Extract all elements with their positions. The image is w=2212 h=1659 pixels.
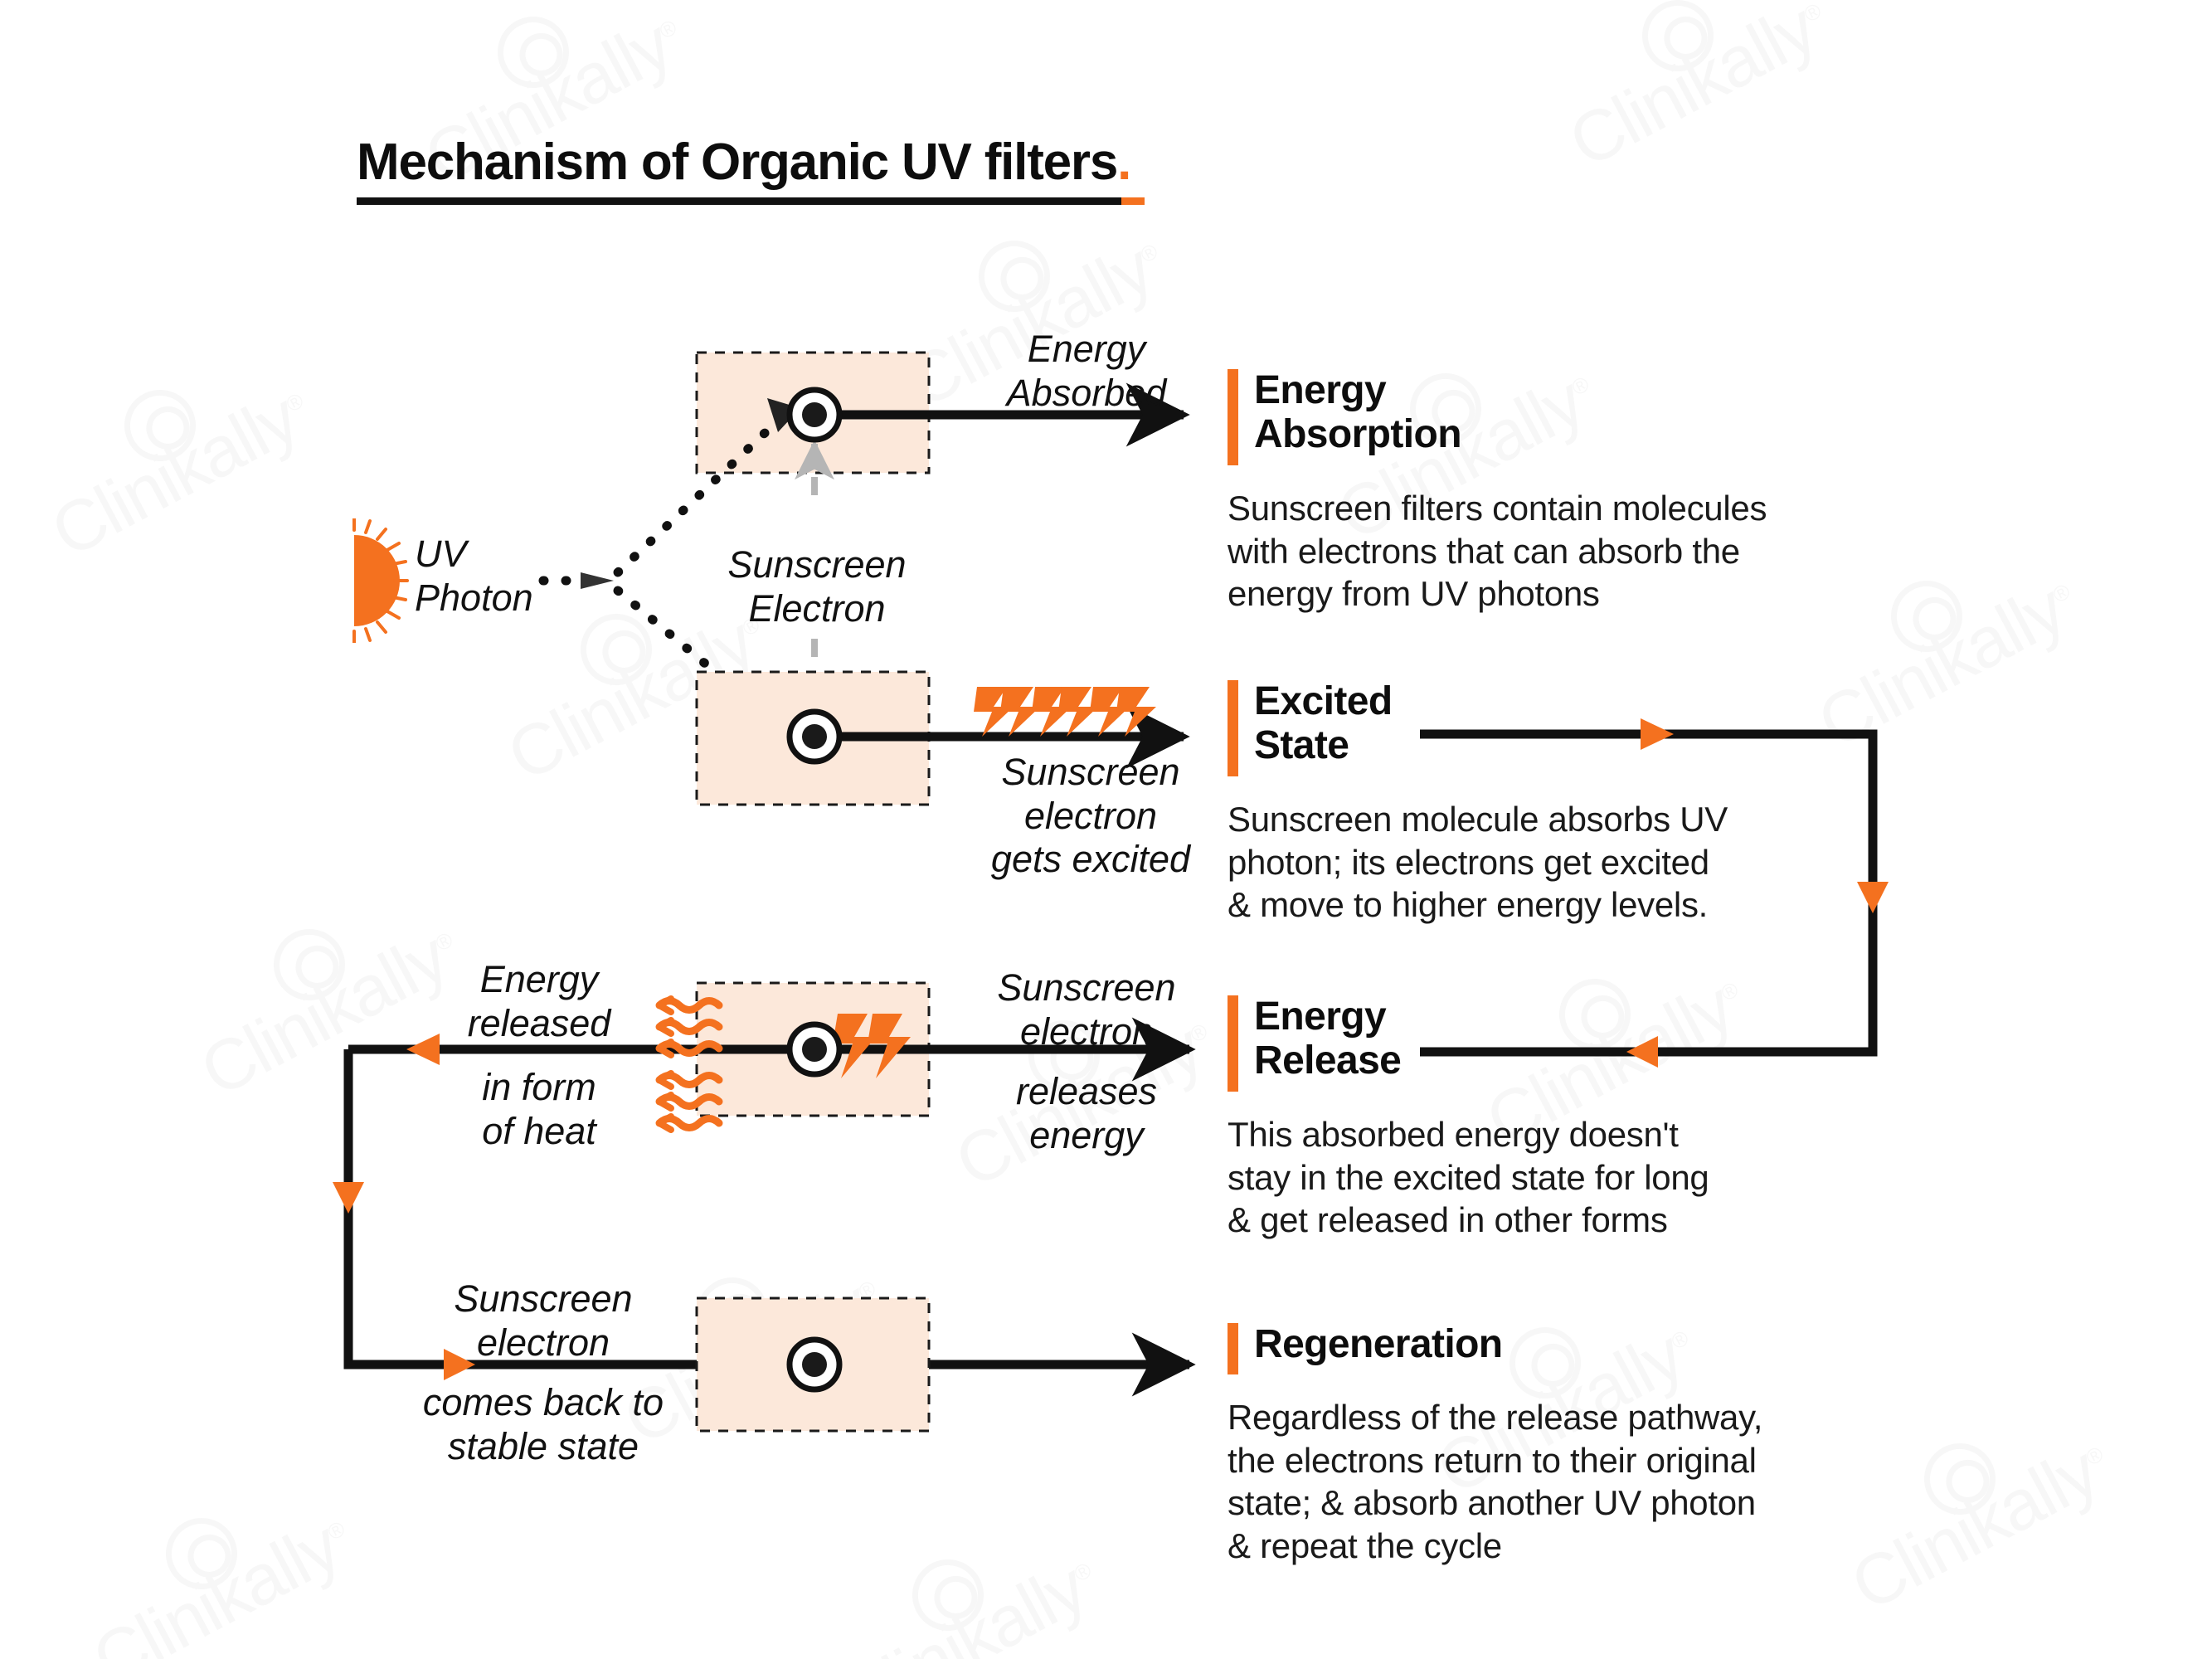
step-header: Excited State bbox=[1228, 680, 1891, 776]
energy-released-label: Energy released bbox=[406, 958, 672, 1045]
title-underline bbox=[357, 197, 1145, 205]
in-form-of-heat-label: in form of heat bbox=[406, 1066, 672, 1153]
title-period: . bbox=[1117, 134, 1130, 191]
accent-bar bbox=[1228, 680, 1238, 776]
sunscreen-electron-link-label: Sunscreen Electron bbox=[680, 543, 954, 630]
energy-absorbed-label: Energy Absorbed bbox=[954, 328, 1219, 415]
regeneration-bottom-label: comes back to stable state bbox=[382, 1381, 705, 1468]
step-energy-release: Energy Release This absorbed energy does… bbox=[1228, 995, 1891, 1242]
step-energy-absorption: Energy Absorption Sunscreen filters cont… bbox=[1228, 369, 1891, 615]
page-title: Mechanism of Organic UV filters. bbox=[357, 133, 1145, 205]
step-title: Excited State bbox=[1254, 680, 1393, 768]
step-excited-state: Excited State Sunscreen molecule absorbs… bbox=[1228, 680, 1891, 927]
step-header: Regeneration bbox=[1228, 1323, 1916, 1374]
lightning-bolt-icon bbox=[1090, 687, 1156, 737]
step-body: Sunscreen filters contain molecules with… bbox=[1228, 487, 1891, 615]
page-title-text: Mechanism of Organic UV filters. bbox=[357, 133, 1145, 192]
step-title: Energy Release bbox=[1254, 995, 1401, 1083]
step-body: Regardless of the release pathway, the e… bbox=[1228, 1396, 1916, 1568]
diagram-canvas: Clinikally® Clinikally® Clinikally® Clin… bbox=[0, 0, 2212, 1659]
regeneration-top-label: Sunscreen electron bbox=[406, 1277, 680, 1365]
step-body: Sunscreen molecule absorbs UV photon; it… bbox=[1228, 798, 1891, 927]
accent-bar bbox=[1228, 369, 1238, 465]
electron-icon bbox=[790, 1340, 839, 1389]
step-body: This absorbed energy doesn't stay in the… bbox=[1228, 1113, 1891, 1242]
step-header: Energy Absorption bbox=[1228, 369, 1891, 465]
lightning-bolt-icon bbox=[1032, 687, 1098, 737]
step-header: Energy Release bbox=[1228, 995, 1891, 1092]
electron-icon bbox=[790, 712, 839, 761]
accent-bar bbox=[1228, 1323, 1238, 1374]
accent-bar bbox=[1228, 995, 1238, 1092]
step-title: Regeneration bbox=[1254, 1323, 1503, 1367]
electron-icon bbox=[790, 1024, 839, 1074]
releases-energy-bottom-label: releases energy bbox=[954, 1070, 1219, 1157]
step-regeneration: Regeneration Regardless of the release p… bbox=[1228, 1323, 1916, 1568]
gets-excited-label: Sunscreen electron gets excited bbox=[954, 751, 1228, 882]
releases-energy-top-label: Sunscreen electron bbox=[954, 966, 1219, 1053]
step-title: Energy Absorption bbox=[1254, 369, 1461, 457]
lightning-bolt-icon bbox=[974, 687, 1040, 737]
uv-photon-label: UV Photon bbox=[415, 533, 605, 620]
electron-icon bbox=[790, 390, 839, 440]
